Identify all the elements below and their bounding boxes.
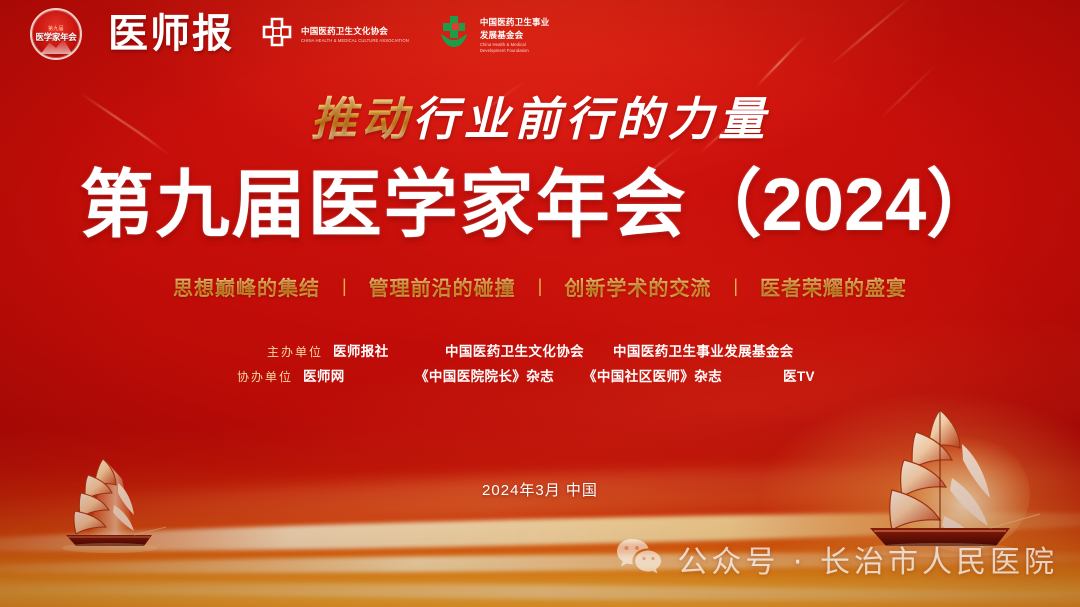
subtitle-item-3: 创新学术的交流 — [564, 272, 711, 301]
subtitle-separator-2: | — [516, 276, 565, 297]
partner-en-name-line1: China Health & Medical — [480, 42, 550, 47]
partner-en-name: CHINA HEALTH & MEDICAL CULTURE ASSOCIATI… — [301, 38, 409, 43]
cohost-unit-3: 《中国社区医师》杂志 — [583, 365, 783, 385]
host-unit-1: 医师报社 — [333, 340, 445, 360]
subtitle-separator-3: | — [711, 276, 760, 297]
partner-cn-name-line1: 中国医药卫生事业 — [480, 16, 550, 28]
tagline: 推动行业前行的力量 — [0, 96, 1080, 142]
event-datetime: 2024年3月 中国 — [0, 479, 1080, 500]
partner-cn-name: 中国医药卫生文化协会 — [301, 25, 409, 37]
subtitle-separator-1: | — [320, 276, 369, 297]
cohost-row: 协办单位 医师网 《中国医院院长》杂志 《中国社区医师》杂志 医TV — [237, 365, 843, 385]
tagline-white-part: 行业前行的力量 — [413, 92, 770, 146]
header-logo-bar: 第九届 医学家年会 医师报 中国医药卫生文化协会 CHINA HEALTH & … — [30, 8, 549, 60]
host-row: 主办单位 医师报社 中国医药卫生文化协会 中国医药卫生事业发展基金会 — [267, 340, 813, 360]
partner-en-name-line2: Development Foundation — [480, 48, 550, 53]
conference-badge-logo: 第九届 医学家年会 — [30, 8, 82, 60]
conference-poster: 第九届 医学家年会 医师报 中国医药卫生文化协会 CHINA HEALTH & … — [0, 0, 1080, 607]
cohost-unit-4: 医TV — [783, 365, 843, 385]
subtitle-item-4: 医者荣耀的盛宴 — [760, 272, 907, 301]
page-title: 第九届医学家年会（2024） — [0, 168, 1080, 242]
partner-cn-name-line2: 发展基金会 — [480, 29, 550, 41]
subtitle-item-2: 管理前沿的碰撞 — [369, 272, 516, 301]
tagline-gold-part: 推动 — [311, 92, 413, 146]
partner-logo-chmdf: 中国医药卫生事业 发展基金会 China Health & Medical De… — [435, 14, 550, 55]
green-cross-hands-icon — [435, 14, 473, 55]
organizers-block: 主办单位 医师报社 中国医药卫生文化协会 中国医药卫生事业发展基金会 协办单位 … — [0, 340, 1080, 385]
cohost-label: 协办单位 — [237, 368, 303, 385]
subtitle-row: 思想巅峰的集结 | 管理前沿的碰撞 | 创新学术的交流 | 医者荣耀的盛宴 — [0, 272, 1080, 301]
host-unit-2: 中国医药卫生文化协会 — [445, 340, 613, 360]
cohost-unit-2: 《中国医院院长》杂志 — [415, 365, 583, 385]
host-label: 主办单位 — [267, 343, 333, 360]
red-cross-emblem-icon — [260, 15, 294, 54]
poster-content: 推动行业前行的力量 第九届医学家年会（2024） 思想巅峰的集结 | 管理前沿的… — [0, 0, 1080, 607]
brand-title-yishibao: 医师报 — [108, 14, 234, 54]
badge-top-text: 第九届 — [48, 27, 64, 32]
cohost-unit-1: 医师网 — [303, 365, 415, 385]
page-title-year: （2024） — [688, 163, 1001, 246]
badge-main-text: 医学家年会 — [35, 33, 76, 42]
subtitle-item-1: 思想巅峰的集结 — [173, 272, 320, 301]
host-unit-3: 中国医药卫生事业发展基金会 — [613, 340, 813, 360]
partner-logo-chmca: 中国医药卫生文化协会 CHINA HEALTH & MEDICAL CULTUR… — [260, 15, 409, 54]
page-title-text: 第九届医学家年会 — [80, 162, 688, 248]
